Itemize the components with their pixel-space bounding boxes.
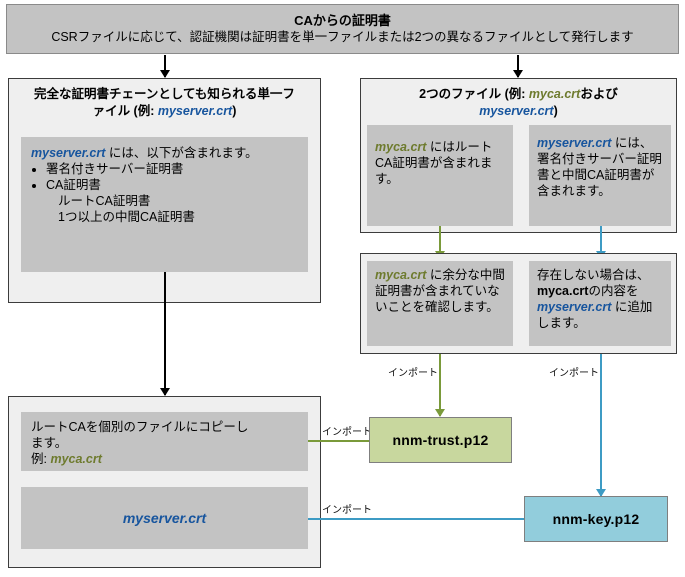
right-step2-mid: の内容を [588,284,638,298]
connector-rootca-to-trust [308,440,376,442]
bottom-left-copy-line2: ます。 [31,435,298,451]
header-box: CAからの証明書 CSRファイルに応じて、認証機関は証明書を単一ファイルまたは2… [6,4,679,54]
output-box-nnm-key[interactable]: nnm-key.p12 [524,496,668,542]
bottom-left-copy-line3-file: myca.crt [50,452,101,466]
output-box-nnm-trust[interactable]: nnm-trust.p12 [369,417,512,463]
header-title: CAからの証明書 [294,12,391,29]
edge-label-import-key-vertical: インポート [549,368,599,380]
right-branch-title-file-b: myserver.crt [479,104,553,118]
left-branch-intro: myserver.crt には、以下が含まれます。 [31,145,298,161]
bottom-left-copy-line3: 例: myca.crt [31,451,298,467]
left-branch-title: 完全な証明書チェーンとしても知られる単一フ ァイル (例: myserver.c… [14,86,315,120]
right-branch-box-myca-text: myca.crt にはルートCA証明書が含まれます。 [375,139,505,187]
left-branch-content-box: myserver.crt には、以下が含まれます。 署名付きサーバー証明書 CA… [21,137,308,272]
left-branch-subitem-1: ルートCA証明書 [31,193,298,209]
left-branch-title-line2-suffix: ) [232,104,236,118]
header-subtitle: CSRファイルに応じて、認証機関は証明書を単一ファイルまたは2つの異なるファイル… [51,29,633,46]
right-branch-box-myserver: myserver.crt には、署名付きサーバー証明書と中間CA証明書が含まれま… [529,125,671,226]
right-branch-box-myca-file: myca.crt [375,140,426,154]
left-branch-intro-file: myserver.crt [31,146,105,160]
left-branch-title-file: myserver.crt [158,104,232,118]
left-branch-subitem-2: 1つ以上の中間CA証明書 [31,209,298,225]
bottom-left-copy-line1: ルートCAを個別のファイルにコピーし [31,419,298,435]
arrowhead-header-to-left [160,70,170,78]
right-branch-title-suffix: ) [554,104,558,118]
right-branch-title-prefix: 2つのファイル (例: [419,87,529,101]
diagram-canvas: CAからの証明書 CSRファイルに応じて、認証機関は証明書を単一ファイルまたは2… [0,0,685,577]
arrowhead-step2-to-trust [435,409,445,417]
left-branch-title-line2-prefix: ァイル (例: [93,104,158,118]
connector-left-to-bottomleft [164,272,166,395]
right-branch-box-myca: myca.crt にはルートCA証明書が含まれます。 [367,125,513,226]
edge-label-import-trust-vertical: インポート [388,368,438,380]
right-step2-box-myca-file: myca.crt [375,268,426,282]
right-step2-box-myserver: 存在しない場合は、myca.crtの内容をmyserver.crt に追加します… [529,261,671,346]
bottom-left-box-myserver: myserver.crt [21,487,308,549]
connector-myserver-to-key [308,518,530,520]
right-step2-file: myserver.crt [537,300,611,314]
left-branch-title-line1: 完全な証明書チェーンとしても知られる単一フ [34,87,295,101]
left-branch-intro-text: には、以下が含まれます。 [105,146,257,160]
output-label-nnm-key: nnm-key.p12 [553,511,640,527]
list-item: CA証明書 [46,177,298,193]
right-step2-lead: 存在しない場合は、 [537,268,650,282]
connector-step2-to-key [600,354,602,496]
left-branch-bullet-list: 署名付きサーバー証明書 CA証明書 [31,161,298,193]
bottom-left-box-myserver-file: myserver.crt [123,510,206,526]
edge-label-import-key-horizontal: インポート [322,505,372,517]
right-branch-title-mid: および [580,87,618,101]
right-step2-box-myca: myca.crt に余分な中間証明書が含まれていないことを確認します。 [367,261,513,346]
right-step2-box-myserver-text: 存在しない場合は、myca.crtの内容をmyserver.crt に追加します… [537,267,663,331]
right-step2-box-myca-text: myca.crt に余分な中間証明書が含まれていないことを確認します。 [375,267,505,315]
right-branch-title-file-a: myca.crt [529,87,580,101]
right-branch-title: 2つのファイル (例: myca.crtおよび myserver.crt) [366,86,671,120]
bottom-left-box-copy-root-ca: ルートCAを個別のファイルにコピーし ます。 例: myca.crt [21,412,308,471]
output-label-nnm-trust: nnm-trust.p12 [393,432,489,448]
bottom-left-copy-line3-prefix: 例: [31,452,50,466]
right-branch-box-myserver-file: myserver.crt [537,136,611,150]
connector-step2-to-trust [439,354,441,416]
arrowhead-left-to-bottomleft [160,388,170,396]
list-item: 署名付きサーバー証明書 [46,161,298,177]
right-branch-box-myserver-text: myserver.crt には、署名付きサーバー証明書と中間CA証明書が含まれま… [537,135,663,199]
arrowhead-header-to-right [513,70,523,78]
right-step2-plain-file: myca.crt [537,284,588,298]
edge-label-import-trust-horizontal: インポート [322,427,372,439]
